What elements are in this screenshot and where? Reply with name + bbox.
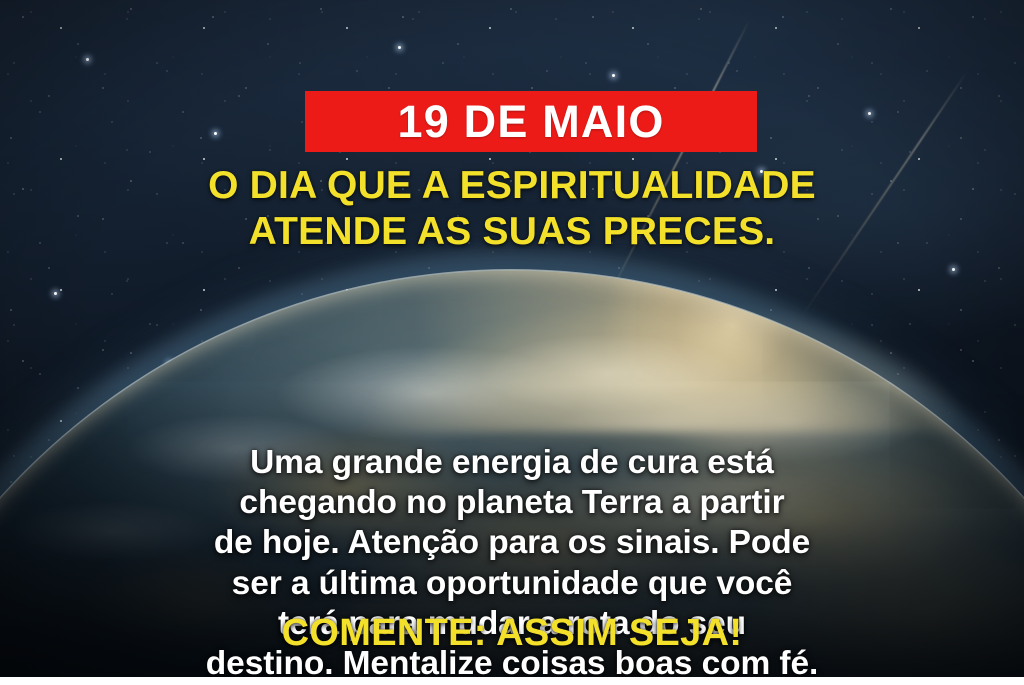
body-line-2: chegando no planeta Terra a partir [48,483,976,523]
footer-strip [0,677,1024,685]
cta-text: COMENTE: ASSIM SEJA! [282,612,743,654]
poster-content: 19 DE MAIO O DIA QUE A ESPIRITUALIDADE A… [0,0,1024,685]
date-badge: 19 DE MAIO [305,91,757,152]
body-line-1: Uma grande energia de cura está [48,443,976,483]
poster-canvas: 19 DE MAIO O DIA QUE A ESPIRITUALIDADE A… [0,0,1024,685]
date-badge-text: 19 DE MAIO [397,99,664,144]
headline: O DIA QUE A ESPIRITUALIDADE ATENDE AS SU… [0,163,1024,254]
headline-line-2: ATENDE AS SUAS PRECES. [0,209,1024,255]
headline-line-1: O DIA QUE A ESPIRITUALIDADE [0,163,1024,209]
body-line-4: ser a última oportunidade que você [48,564,976,604]
call-to-action: COMENTE: ASSIM SEJA! [0,614,1024,652]
body-line-3: de hoje. Atenção para os sinais. Pode [48,523,976,563]
